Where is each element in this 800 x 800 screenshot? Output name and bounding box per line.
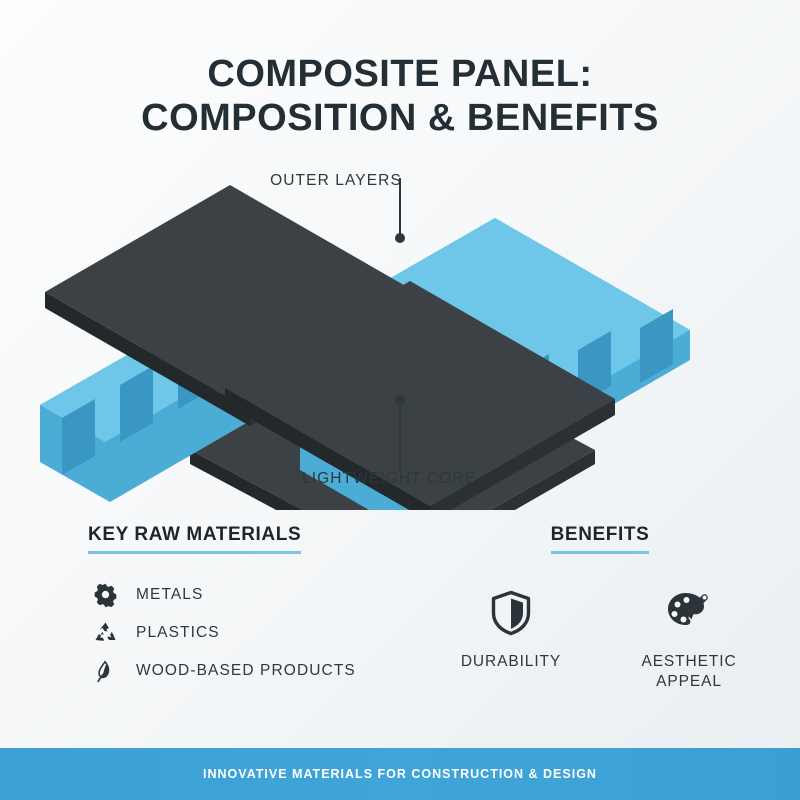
leaf-icon (88, 657, 122, 685)
benefit-item-durability: DURABILITY (455, 588, 567, 692)
callout-label-outer-layers: OUTER LAYERS (270, 172, 402, 190)
callout-label-lightweight-core: LIGHTWEIGHT CORE (302, 470, 476, 488)
lower-sections: KEY RAW MATERIALS METALS (0, 524, 800, 724)
material-item-plastics: PLASTICS (88, 614, 408, 652)
materials-list: METALS P (88, 576, 408, 690)
benefits-heading: BENEFITS (551, 524, 650, 554)
material-label-plastics: PLASTICS (136, 624, 220, 642)
benefit-label-aesthetic-appeal: AESTHETIC APPEAL (633, 652, 745, 692)
benefits-section: BENEFITS DURABILITY (440, 524, 760, 692)
infographic-canvas: COMPOSITE PANEL: COMPOSITION & BENEFITS (0, 0, 800, 800)
material-label-metals: METALS (136, 586, 203, 604)
material-item-wood-based-products: WOOD-BASED PRODUCTS (88, 652, 408, 690)
benefits-list: DURABILITY (440, 588, 760, 692)
title-line-2: COMPOSITION & BENEFITS (0, 96, 800, 140)
shield-icon (490, 588, 532, 638)
benefit-label-durability: DURABILITY (461, 652, 561, 672)
recycle-icon (88, 619, 122, 647)
gear-icon (88, 581, 122, 609)
key-raw-materials-section: KEY RAW MATERIALS METALS (88, 524, 408, 690)
palette-icon (665, 588, 713, 638)
footer-tagline: INNOVATIVE MATERIALS FOR CONSTRUCTION & … (203, 767, 597, 781)
materials-heading: KEY RAW MATERIALS (88, 524, 301, 554)
material-item-metals: METALS (88, 576, 408, 614)
page-title: COMPOSITE PANEL: COMPOSITION & BENEFITS (0, 52, 800, 140)
composite-panel-diagram (0, 160, 800, 510)
title-line-1: COMPOSITE PANEL: (0, 52, 800, 96)
footer-band: INNOVATIVE MATERIALS FOR CONSTRUCTION & … (0, 748, 800, 800)
benefit-item-aesthetic-appeal: AESTHETIC APPEAL (633, 588, 745, 692)
material-label-wood-based-products: WOOD-BASED PRODUCTS (136, 662, 356, 680)
